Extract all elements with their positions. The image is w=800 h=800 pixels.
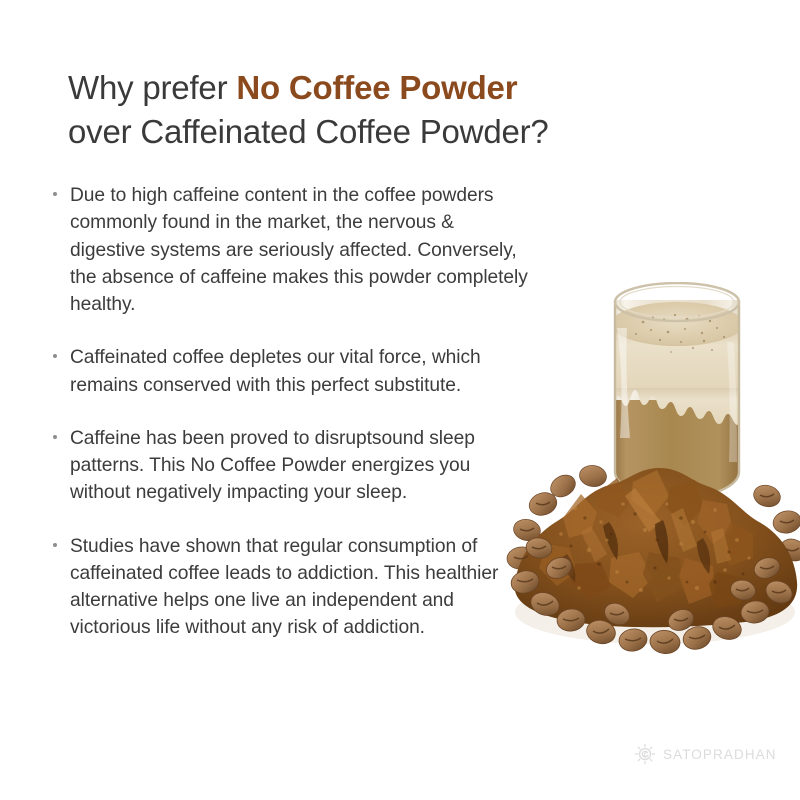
list-item: Due to high caffeine content in the coff…	[50, 182, 530, 318]
brand-wordmark: SATOPRADHAN	[663, 747, 777, 762]
bullet-dot-icon	[53, 354, 57, 358]
infographic-canvas: Why prefer No Coffee Powder over Caffein…	[0, 0, 800, 800]
page-title-line1-prefix: Why prefer	[68, 69, 236, 106]
sun-spiral-icon	[634, 743, 656, 765]
list-item: Caffeine has been proved to disruptsound…	[50, 425, 530, 507]
bullet-dot-icon	[53, 543, 57, 547]
bullet-dot-icon	[53, 192, 57, 196]
page-title-line2: over Caffeinated Coffee Powder?	[68, 113, 549, 150]
list-item-text: Caffeine has been proved to disruptsound…	[70, 428, 475, 504]
list-item-text: Caffeinated coffee depletes our vital fo…	[70, 347, 481, 395]
page-title-accent: No Coffee Powder	[236, 69, 517, 106]
coffee-glass-powder-beans-photo	[505, 282, 800, 672]
brand-logo: SATOPRADHAN	[634, 743, 777, 765]
list-item: Studies have shown that regular consumpt…	[50, 533, 530, 642]
list-item-text: Studies have shown that regular consumpt…	[70, 536, 498, 639]
page-title: Why prefer No Coffee Powder over Caffein…	[68, 66, 708, 154]
list-item-text: Due to high caffeine content in the coff…	[70, 185, 528, 315]
bullet-dot-icon	[53, 435, 57, 439]
list-item: Caffeinated coffee depletes our vital fo…	[50, 344, 530, 399]
benefits-list: Due to high caffeine content in the coff…	[50, 182, 530, 642]
